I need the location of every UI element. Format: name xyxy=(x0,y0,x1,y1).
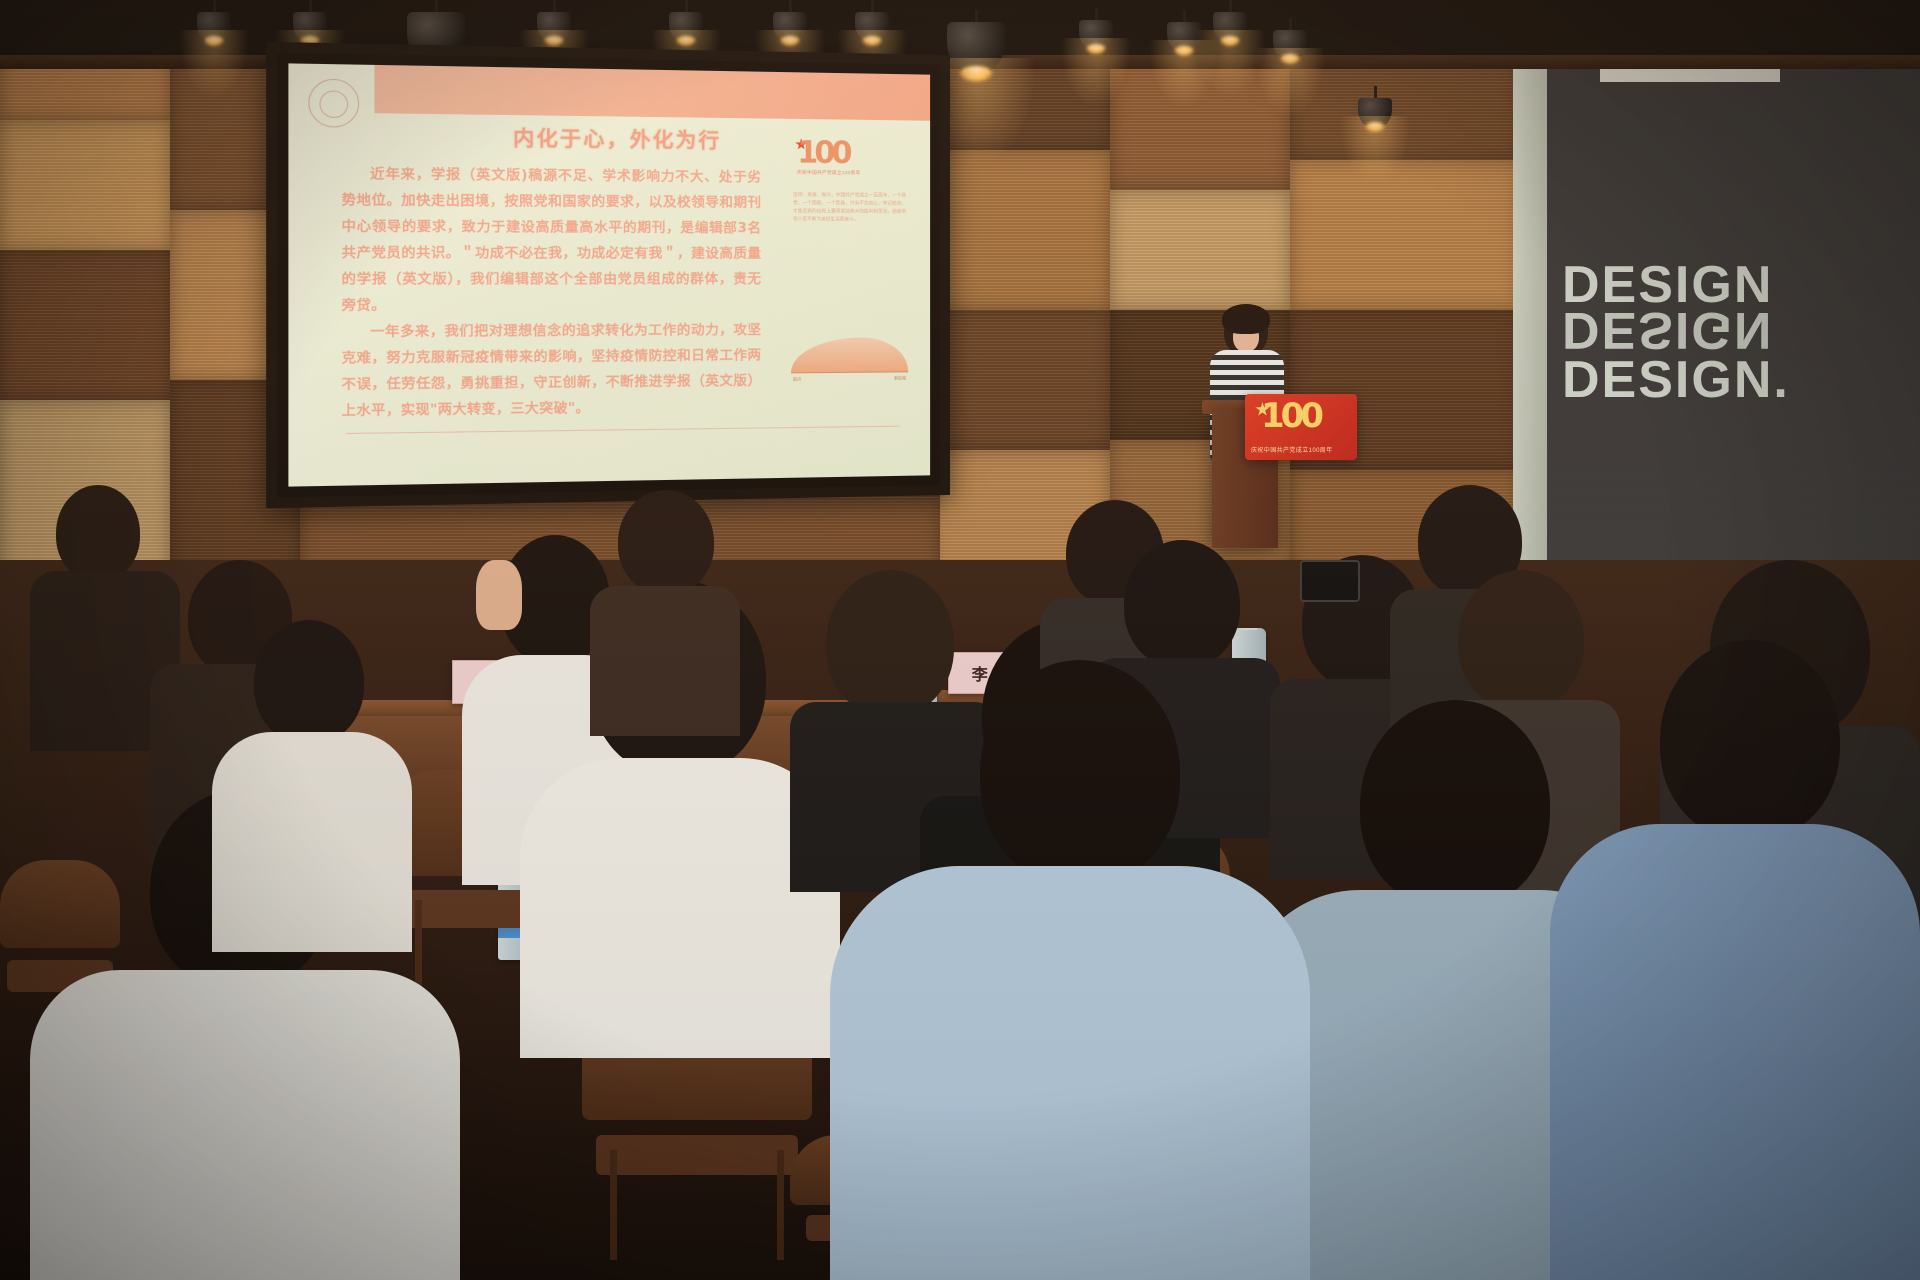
presentation-slide: 内化于心，外化为行 近年来，学报（英文版)稿源不足、学术影响力不大、处于劣势地位… xyxy=(288,63,930,486)
audience-member xyxy=(1550,640,1920,1280)
podium-banner: 100 庆祝中国共产党成立100周年 xyxy=(1245,394,1357,460)
badge-caption: 庆祝中国共产党成立100周年 xyxy=(797,170,860,177)
slide-paragraph-2: 一年多来，我们把对理想信念的追求转化为工作的动力，攻坚克难，努力克服新冠疫情带来… xyxy=(342,318,762,425)
anniversary-badge: 100 庆祝中国共产党成立100周年 xyxy=(789,133,912,189)
slide-body-text: 近年来，学报（英文版)稿源不足、学术影响力不大、处于劣势地位。加快走出困境，按照… xyxy=(342,161,762,424)
figure-label-left: 起点 xyxy=(793,376,801,382)
side-card-figure: 起点 新征程 xyxy=(791,327,908,382)
slide-paragraph-1: 近年来，学报（英文版)稿源不足、学术影响力不大、处于劣势地位。加快走出困境，按照… xyxy=(342,161,762,319)
badge-number: 100 xyxy=(797,135,848,171)
projection-screen: 内化于心，外化为行 近年来，学报（英文版)稿源不足、学术影响力不大、处于劣势地位… xyxy=(266,42,950,508)
figure-label-right: 新征程 xyxy=(894,375,906,381)
slide-accent-bar xyxy=(374,65,930,121)
banner-caption: 庆祝中国共产党成立100周年 xyxy=(1251,445,1353,454)
audience-member xyxy=(590,490,740,720)
audience-member xyxy=(830,660,1310,1280)
banner-number: 100 xyxy=(1261,396,1320,436)
slide-divider xyxy=(346,426,900,434)
side-card-text: 坚持、发展、振兴，中国共产党成立一百周年，一个政党、一个国家、一个民族，只有不忘… xyxy=(793,192,906,225)
photo-scene: DESIGN DESIGN DESIGN. 内化于心，外化为行 xyxy=(0,0,1920,1280)
smartphone xyxy=(1300,560,1360,602)
audience-member xyxy=(380,845,680,1280)
wall-text-design-3: DESIGN. xyxy=(1562,350,1790,410)
slide-side-card: 100 庆祝中国共产党成立100周年 坚持、发展、振兴，中国共产党成立一百周年，… xyxy=(789,133,912,387)
